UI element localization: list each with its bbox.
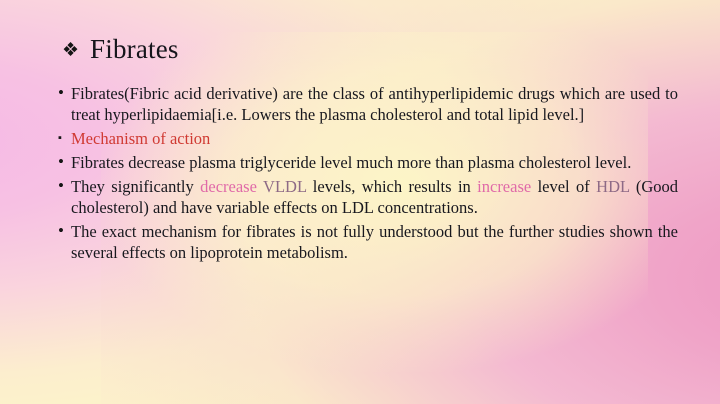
- bullet-item-exact-mechanism: •The exact mechanism for fibrates is not…: [58, 221, 678, 263]
- text-segment: HDL: [596, 177, 629, 196]
- bullet-text-mechanism-of-action-heading: Mechanism of action: [71, 128, 678, 149]
- text-segment: The exact mechanism for fibrates is not …: [71, 222, 678, 262]
- text-segment: decrease: [200, 177, 257, 196]
- text-segment: Fibrates(Fibric acid derivative) are the…: [71, 84, 678, 124]
- dot-bullet-icon: •: [58, 82, 71, 103]
- text-segment: increase: [477, 177, 531, 196]
- presentation-slide: ❖ Fibrates •Fibrates(Fibric acid derivat…: [0, 0, 720, 404]
- bullet-text-definition: Fibrates(Fibric acid derivative) are the…: [71, 83, 678, 125]
- slide-title: ❖ Fibrates: [0, 0, 720, 65]
- text-segment: They significantly: [71, 177, 200, 196]
- text-segment: Mechanism of action: [71, 129, 210, 148]
- bullet-text-exact-mechanism: The exact mechanism for fibrates is not …: [71, 221, 678, 263]
- slide-title-text: Fibrates: [90, 34, 179, 65]
- dot-bullet-icon: •: [58, 151, 71, 172]
- bullet-item-vldl-hdl-ldl-effect: • They significantly decrease VLDL level…: [58, 176, 678, 218]
- bullet-item-mechanism-of-action-heading: ▪Mechanism of action: [58, 128, 678, 149]
- slide-content: ❖ Fibrates •Fibrates(Fibric acid derivat…: [0, 0, 720, 263]
- dot-bullet-icon: •: [58, 220, 71, 241]
- text-segment: level of: [531, 177, 596, 196]
- dot-bullet-icon: •: [58, 175, 71, 196]
- text-segment: levels, which results in: [306, 177, 477, 196]
- text-segment: VLDL: [263, 177, 306, 196]
- text-segment: Fibrates decrease plasma triglyceride le…: [71, 153, 631, 172]
- diamond-bullet-icon: ❖: [62, 41, 79, 60]
- bullet-item-definition: •Fibrates(Fibric acid derivative) are th…: [58, 83, 678, 125]
- bullet-list: •Fibrates(Fibric acid derivative) are th…: [0, 65, 720, 263]
- bullet-item-triglyceride-effect: • Fibrates decrease plasma triglyceride …: [58, 152, 678, 173]
- bullet-text-triglyceride-effect: Fibrates decrease plasma triglyceride le…: [71, 152, 678, 173]
- square-bullet-icon: ▪: [58, 128, 71, 149]
- bullet-text-vldl-hdl-ldl-effect: They significantly decrease VLDL levels,…: [71, 176, 678, 218]
